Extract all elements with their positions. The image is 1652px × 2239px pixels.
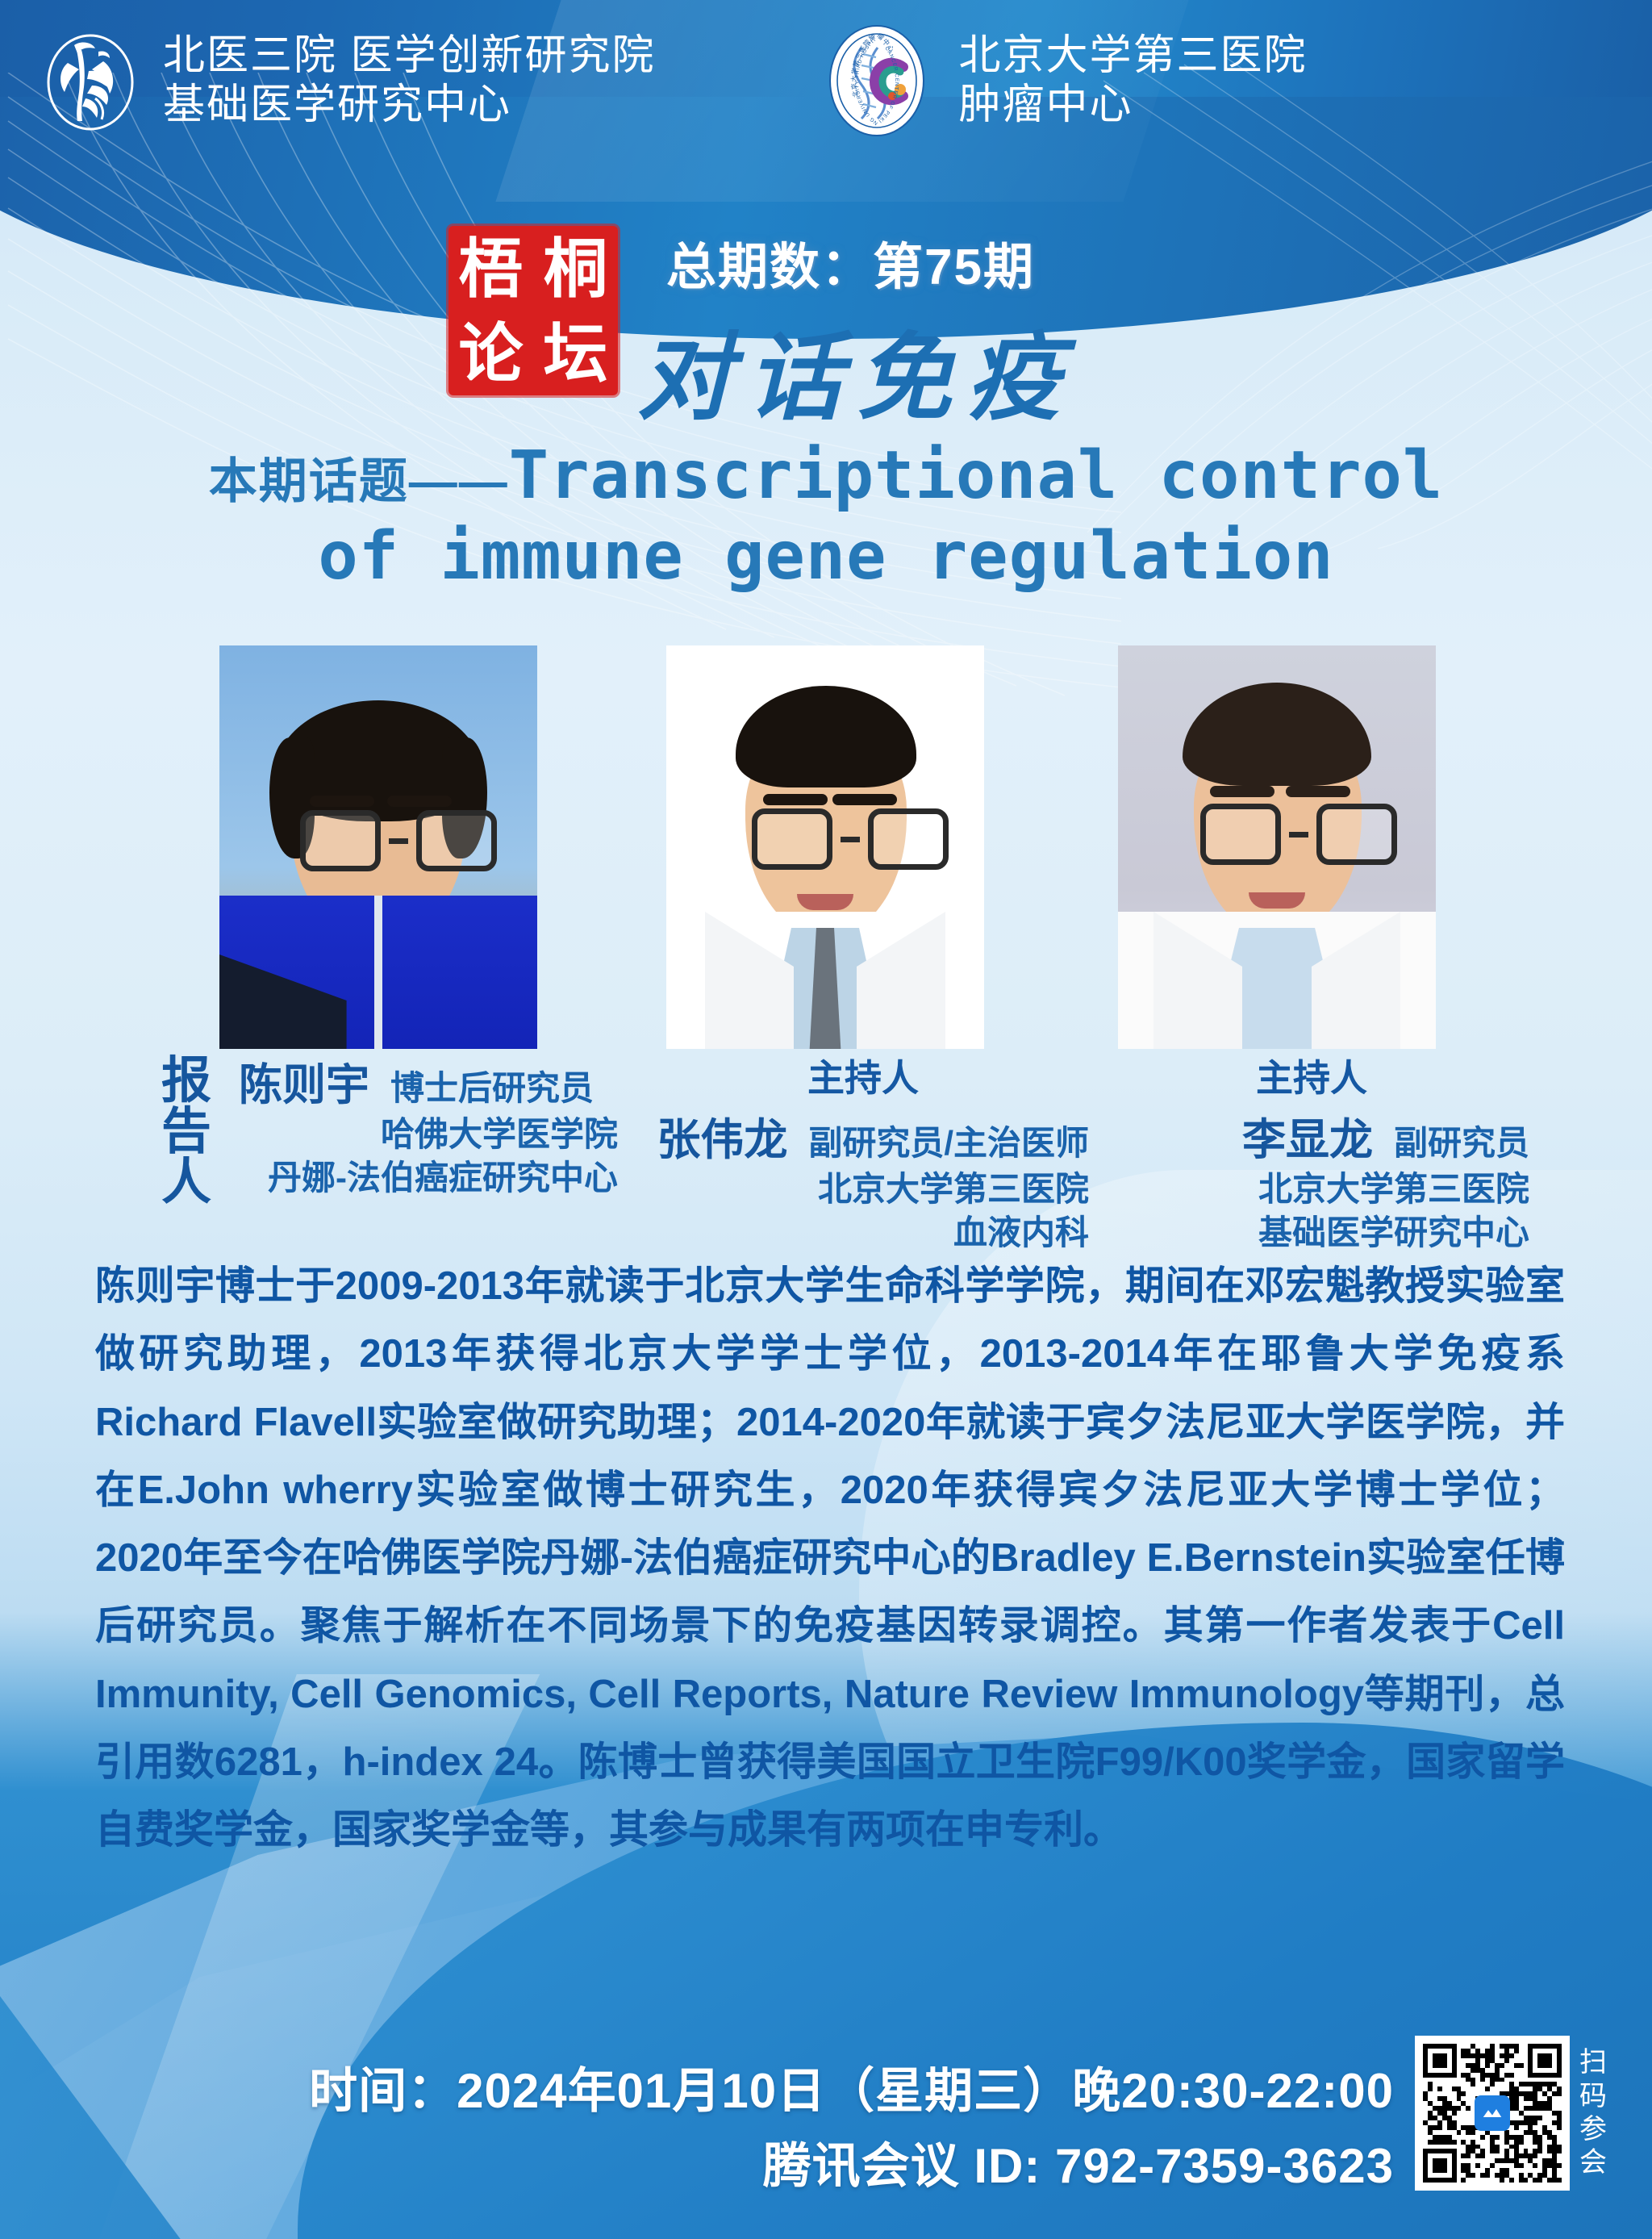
seal-char-2: 桐 bbox=[544, 236, 608, 301]
speaker-3-name: 李显龙 bbox=[1242, 1104, 1373, 1168]
speaker-3-affiliation-1: 北京大学第三医院 bbox=[1094, 1168, 1529, 1211]
bysy-logo-block: 北医三院 医学创新研究院 基础医学研究中心 bbox=[39, 29, 655, 132]
speaker-2-affiliation-2: 血液内科 bbox=[637, 1211, 1089, 1255]
speaker-1-nameline: 陈则宇 博士后研究员 bbox=[239, 1049, 618, 1113]
topic-prefix-label: 本期话题—— bbox=[209, 454, 509, 508]
seal-char-4: 坛 bbox=[544, 321, 608, 386]
qr-label: 扫码参会 bbox=[1579, 2046, 1608, 2180]
reporter-role-vertical-label: 报告人 bbox=[158, 1055, 215, 1209]
bysy-line-1: 北医三院 医学创新研究院 bbox=[163, 31, 655, 81]
poster-root: 北医三院 医学创新研究院 基础医学研究中心 bbox=[0, 0, 1652, 2239]
speaker-1-name: 陈则宇 bbox=[239, 1049, 369, 1113]
issue-number-label: 总期数：第75期 bbox=[666, 226, 1035, 299]
topic-english-line-2: of immune gene regulation bbox=[0, 516, 1652, 597]
forum-seal-stamp: 梧 桐 论 坛 bbox=[448, 226, 618, 395]
seal-char-3: 论 bbox=[459, 321, 524, 386]
bysy-line-2: 基础医学研究中心 bbox=[163, 81, 655, 130]
speaker-3-title: 副研究员 bbox=[1394, 1116, 1529, 1165]
cc-line-1: 北京大学第三医院 bbox=[958, 31, 1307, 81]
topic-line-1: 本期话题——Transcriptional control bbox=[0, 436, 1652, 516]
speaker-2-role: 主持人 bbox=[637, 1049, 1089, 1102]
cancer-center-emblem-icon: - CANCER CENTER OF PEKING UNIVERSITY THI… bbox=[816, 20, 937, 141]
series-name-title: 对话免疫 bbox=[637, 300, 1076, 438]
speaker-2-title: 副研究员/主治医师 bbox=[808, 1116, 1089, 1165]
qr-block: 扫码参会 bbox=[1415, 2036, 1608, 2191]
speaker-1-affiliation-1: 哈佛大学医学院 bbox=[239, 1113, 618, 1156]
bysy-logo-text: 北医三院 医学创新研究院 基础医学研究中心 bbox=[163, 31, 655, 131]
meeting-id-line: 腾讯会议 ID: 792-7359-3623 bbox=[309, 2128, 1394, 2203]
speaker-photo-3 bbox=[1118, 645, 1436, 1049]
speaker-3-nameline: 李显龙 副研究员 bbox=[1094, 1104, 1529, 1168]
speaker-photo-2 bbox=[666, 645, 984, 1049]
event-time-line: 时间：2024年01月10日（星期三）晚20:30-22:00 bbox=[309, 2053, 1394, 2128]
speaker-names-row: 报告人 陈则宇 博士后研究员 哈佛大学医学院 丹娜-法伯癌症研究中心 主持人 张… bbox=[0, 1049, 1652, 1259]
event-info-block: 时间：2024年01月10日（星期三）晚20:30-22:00 腾讯会议 ID:… bbox=[309, 2053, 1394, 2203]
speaker-card-1: 陈则宇 博士后研究员 哈佛大学医学院 丹娜-法伯癌症研究中心 bbox=[239, 1049, 618, 1200]
phoenix-emblem-icon bbox=[39, 29, 142, 132]
photo-1-jacket-zip bbox=[374, 896, 382, 1049]
qr-code-icon[interactable] bbox=[1415, 2036, 1570, 2191]
speaker-photos-row bbox=[0, 645, 1652, 1049]
cancer-center-logo-text: 北京大学第三医院 肿瘤中心 bbox=[958, 31, 1307, 131]
topic-english-line-1: Transcriptional control bbox=[509, 437, 1443, 514]
speaker-card-3: 主持人 李显龙 副研究员 北京大学第三医院 基础医学研究中心 bbox=[1094, 1049, 1529, 1255]
cc-line-2: 肿瘤中心 bbox=[958, 81, 1307, 130]
speaker-3-role: 主持人 bbox=[1094, 1049, 1529, 1102]
speaker-card-2: 主持人 张伟龙 副研究员/主治医师 北京大学第三医院 血液内科 bbox=[637, 1049, 1089, 1255]
speaker-2-name: 张伟龙 bbox=[657, 1104, 787, 1168]
speaker-photo-1 bbox=[219, 645, 537, 1049]
topic-title-block: 本期话题——Transcriptional control of immune … bbox=[0, 436, 1652, 597]
speaker-3-affiliation-2: 基础医学研究中心 bbox=[1094, 1211, 1529, 1255]
speaker-2-affiliation-1: 北京大学第三医院 bbox=[637, 1168, 1089, 1211]
tencent-meeting-icon bbox=[1475, 2095, 1510, 2131]
cancer-center-logo-block: - CANCER CENTER OF PEKING UNIVERSITY THI… bbox=[816, 20, 1307, 141]
seal-char-1: 梧 bbox=[459, 236, 524, 301]
speaker-2-nameline: 张伟龙 副研究员/主治医师 bbox=[637, 1104, 1089, 1168]
poster-header: 北医三院 医学创新研究院 基础医学研究中心 bbox=[0, 0, 1652, 161]
speaker-1-affiliation-2: 丹娜-法伯癌症研究中心 bbox=[239, 1156, 618, 1200]
speaker-biography-text: 陈则宇博士于2009-2013年就读于北京大学生命科学学院，期间在邓宏魁教授实验… bbox=[95, 1252, 1565, 1864]
speaker-1-title: 博士后研究员 bbox=[390, 1061, 594, 1110]
